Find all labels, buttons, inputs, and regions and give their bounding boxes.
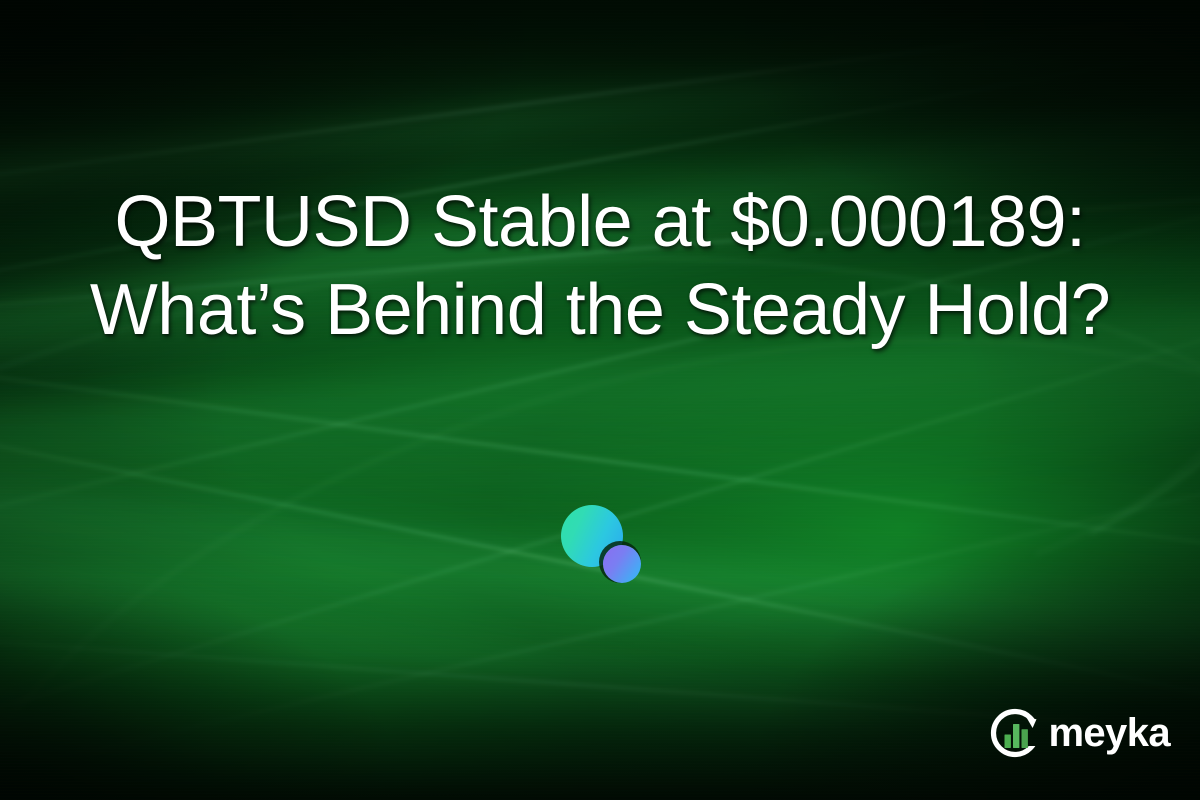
article-banner: QBTUSD Stable at $0.000189: What’s Behin… [0, 0, 1200, 800]
token-bubbles-mark [561, 505, 643, 583]
banner-content: QBTUSD Stable at $0.000189: What’s Behin… [0, 0, 1200, 800]
circle-gradient-purple-icon [603, 545, 641, 583]
meyka-ring-bars-icon [988, 706, 1042, 760]
brand-name: meyka [1048, 713, 1170, 753]
brand-logo: meyka [988, 706, 1170, 760]
page-title: QBTUSD Stable at $0.000189: What’s Behin… [45, 178, 1155, 354]
